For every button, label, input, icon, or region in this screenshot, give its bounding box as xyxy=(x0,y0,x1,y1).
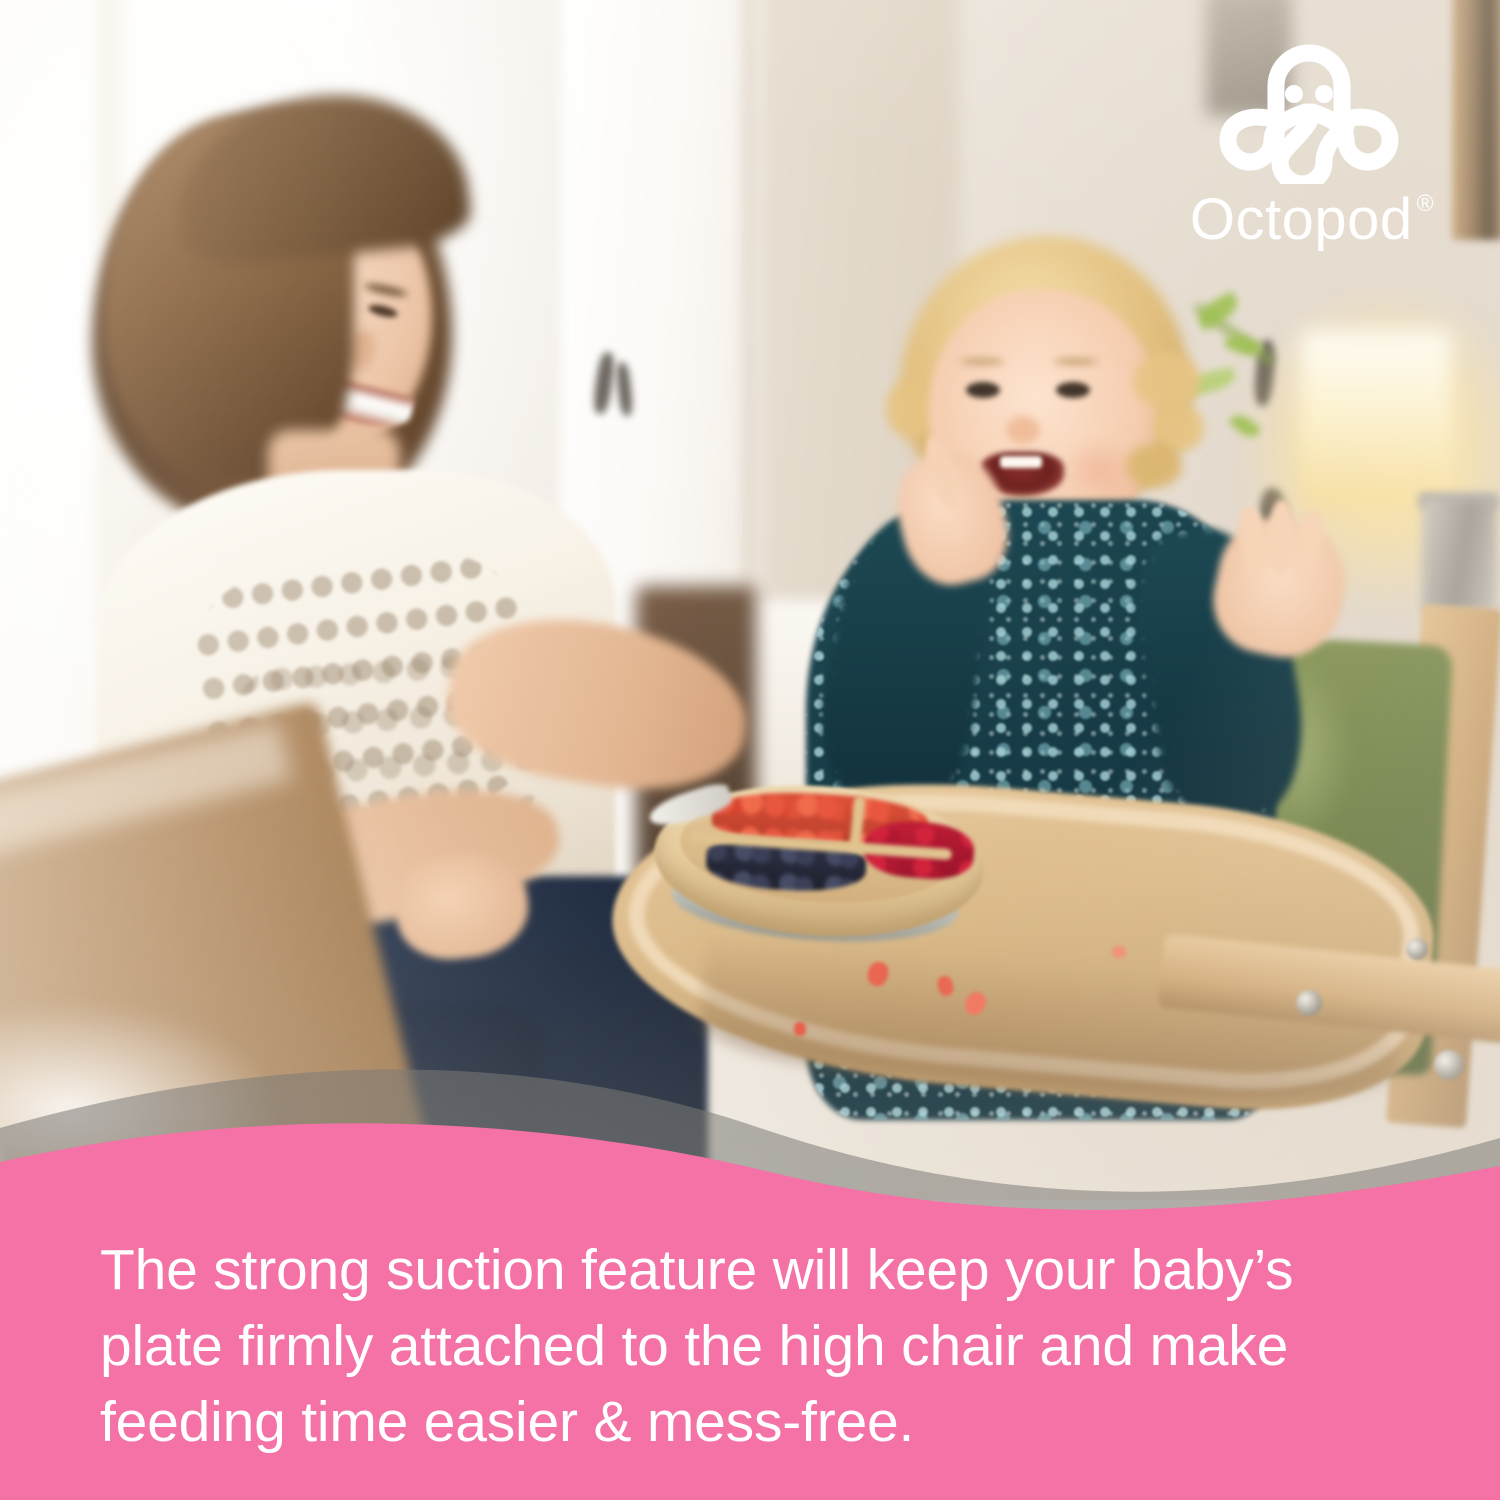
octopus-icon xyxy=(1214,34,1404,184)
baby-eyebrow xyxy=(960,358,1004,365)
baby-teeth xyxy=(1000,456,1042,468)
brand-name: Octopod xyxy=(1190,187,1413,252)
baby-curl xyxy=(1134,352,1200,410)
baby-eye xyxy=(966,382,1000,398)
baby-eye xyxy=(1056,382,1090,398)
baby-curl xyxy=(1126,444,1182,488)
chair-bolt xyxy=(1406,938,1428,960)
octopus-eye xyxy=(1315,85,1333,103)
brand-wordmark: Octopod® xyxy=(1162,186,1462,253)
table-lamp xyxy=(1300,330,1452,506)
registered-trademark-icon: ® xyxy=(1417,190,1434,216)
baby-curl xyxy=(886,380,934,438)
baby-eyebrow xyxy=(1054,358,1098,365)
metal-canister xyxy=(1422,500,1496,612)
baby-nose xyxy=(1006,416,1040,444)
brand-logo: Octopod® xyxy=(1162,34,1462,254)
caption-text: The strong suction feature will keep you… xyxy=(0,1232,1500,1460)
octopus-eye xyxy=(1285,85,1303,103)
food-crumb xyxy=(1112,946,1126,958)
chair-bolt xyxy=(1296,990,1322,1016)
product-marketing-image: The strong suction feature will keep you… xyxy=(0,0,1500,1500)
